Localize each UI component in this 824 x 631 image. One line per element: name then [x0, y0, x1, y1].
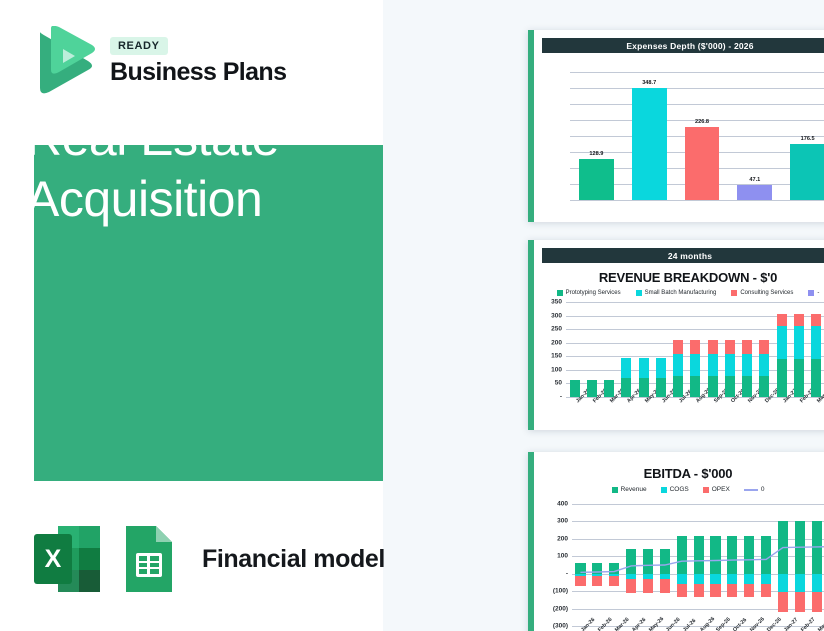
stacked-bar-segment: [759, 354, 769, 376]
legend-label: Revenue: [621, 486, 647, 493]
svg-text:X: X: [45, 545, 62, 573]
stacked-bar-segment: [639, 358, 649, 378]
chart3-plot-area: 400300200100-(100)(200)(300)Jan-26Feb-26…: [572, 504, 824, 626]
stacked-bar-segment: [777, 326, 787, 359]
card-accent-bar: [528, 30, 534, 222]
legend-label: 0: [761, 486, 765, 493]
legend-item: Revenue: [612, 486, 647, 493]
gridline: [570, 88, 824, 89]
brand-logo-block: READY Business Plans: [30, 26, 286, 98]
legend-label: Prototyping Services: [566, 290, 621, 296]
legend-swatch: [808, 290, 814, 296]
stacked-bar-segment: [621, 378, 631, 397]
bar-value-label: 47.1: [749, 177, 760, 183]
stacked-bar-segment: [725, 340, 735, 354]
stacked-bar-segment: [656, 378, 666, 397]
financial-model-label: Financial model: [202, 545, 385, 574]
legend-label: Consulting Services: [740, 290, 793, 296]
gridline: [570, 200, 824, 201]
page-title-line2: Acquisition: [26, 169, 279, 230]
stacked-bar-segment: [759, 376, 769, 397]
legend-label: COGS: [670, 486, 689, 493]
legend-swatch: [661, 487, 667, 493]
play-triangle-logo-icon: [30, 26, 96, 98]
chart3-legend: RevenueCOGSOPEX0: [528, 486, 824, 493]
chart-card-ebitda[interactable]: EBITDA - $'000 RevenueCOGSOPEX0 40030020…: [528, 452, 824, 631]
ebitda-zero-line: [572, 504, 824, 626]
chart-card-revenue-breakdown[interactable]: 24 months REVENUE BREAKDOWN - $'0 Protot…: [528, 240, 824, 430]
stacked-bar-segment: [777, 314, 787, 326]
stacked-bar-segment: [570, 380, 580, 397]
bar: [737, 185, 772, 200]
y-axis-tick-label: 200: [551, 339, 562, 346]
stacked-bar-segment: [794, 314, 804, 326]
y-axis-tick-label: 300: [551, 312, 562, 319]
gridline: [570, 104, 824, 105]
bar-value-label: 176.5: [801, 136, 815, 142]
card-accent-bar: [528, 452, 534, 631]
legend-swatch: [636, 290, 642, 296]
stacked-bar-segment: [690, 376, 700, 397]
bar-value-label: 348.7: [642, 80, 656, 86]
stacked-bar-segment: [621, 358, 631, 378]
legend-label: Small Batch Manufacturing: [645, 290, 717, 296]
legend-swatch: [744, 489, 758, 491]
bar: [790, 144, 824, 200]
stacked-bar-segment: [759, 340, 769, 354]
y-axis-tick-label: 100: [557, 553, 568, 560]
y-axis-tick-label: 300: [557, 518, 568, 525]
stacked-bar-segment: [708, 354, 718, 376]
y-axis-tick-label: 150: [551, 353, 562, 360]
y-axis-tick-label: 400: [557, 501, 568, 508]
bar-value-label: 128.9: [589, 151, 603, 157]
brand-text: READY Business Plans: [110, 37, 286, 87]
gridline: [566, 302, 824, 303]
google-sheets-icon: [118, 523, 180, 595]
bar: [685, 127, 720, 200]
legend-label: OPEX: [712, 486, 730, 493]
chart2-plot-area: 35030025020015010050-Jan-26Feb-26Mar-26A…: [566, 302, 824, 397]
stacked-bar-segment: [794, 326, 804, 359]
legend-swatch: [703, 487, 709, 493]
gridline: [570, 72, 824, 73]
legend-swatch: [731, 290, 737, 296]
y-axis-tick-label: 100: [551, 366, 562, 373]
y-axis-tick-label: (200): [553, 605, 568, 612]
stacked-bar-segment: [811, 359, 821, 397]
chart2-title: REVENUE BREAKDOWN - $'0: [528, 270, 824, 285]
chart2-legend: Prototyping ServicesSmall Batch Manufact…: [528, 290, 824, 296]
stacked-bar-segment: [811, 326, 821, 359]
stacked-bar-segment: [656, 358, 666, 378]
y-axis-tick-label: 250: [551, 326, 562, 333]
bar: [579, 159, 614, 200]
chart1-plot-area: 128.9348.7226.847.1176.5: [570, 72, 824, 200]
chart-card-expenses-depth[interactable]: Expenses Depth ($'000) - 2026 128.9348.7…: [528, 30, 824, 222]
stacked-bar-segment: [673, 340, 683, 354]
y-axis-tick-label: -: [560, 394, 562, 401]
y-axis-tick-label: (300): [553, 623, 568, 630]
y-axis-tick-label: (100): [553, 588, 568, 595]
legend-swatch: [612, 487, 618, 493]
stacked-bar-segment: [690, 340, 700, 354]
ready-badge: READY: [110, 37, 168, 55]
page-title-line1: Real Estate: [26, 108, 279, 169]
card-accent-bar: [528, 240, 534, 430]
stacked-bar-segment: [673, 376, 683, 397]
stacked-bar-segment: [725, 376, 735, 397]
stacked-bar-segment: [708, 376, 718, 397]
stacked-bar-segment: [690, 354, 700, 376]
page-title: Real Estate Acquisition: [26, 108, 279, 230]
legend-item: COGS: [661, 486, 689, 493]
legend-item: OPEX: [703, 486, 730, 493]
legend-item: Consulting Services: [731, 290, 793, 296]
chart1-header-bar: Expenses Depth ($'000) - 2026: [542, 38, 824, 53]
legend-item: Small Batch Manufacturing: [636, 290, 717, 296]
y-axis-tick-label: -: [566, 570, 568, 577]
stacked-bar-segment: [639, 378, 649, 397]
legend-item: Prototyping Services: [557, 290, 621, 296]
chart3-title: EBITDA - $'000: [528, 466, 824, 481]
y-axis-tick-label: 50: [555, 380, 562, 387]
stacked-bar-segment: [777, 359, 787, 397]
stacked-bar-segment: [742, 340, 752, 354]
legend-swatch: [557, 290, 563, 296]
legend-item: 0: [744, 486, 765, 493]
stacked-bar-segment: [708, 340, 718, 354]
stacked-bar-segment: [794, 359, 804, 397]
y-axis-tick-label: 200: [557, 535, 568, 542]
stacked-bar-segment: [673, 354, 683, 376]
brand-name: Business Plans: [110, 58, 286, 87]
stacked-bar-segment: [742, 376, 752, 397]
stacked-bar-segment: [811, 314, 821, 326]
microsoft-excel-icon: X: [32, 523, 102, 595]
y-axis-tick-label: 350: [551, 299, 562, 306]
stacked-bar-segment: [587, 380, 597, 397]
bar-value-label: 226.8: [695, 119, 709, 125]
legend-item: -: [808, 290, 819, 296]
stacked-bar-segment: [742, 354, 752, 376]
chart2-header-bar: 24 months: [542, 248, 824, 263]
format-icons-row: X Financial model: [32, 523, 385, 595]
stacked-bar-segment: [725, 354, 735, 376]
bar: [632, 88, 667, 200]
